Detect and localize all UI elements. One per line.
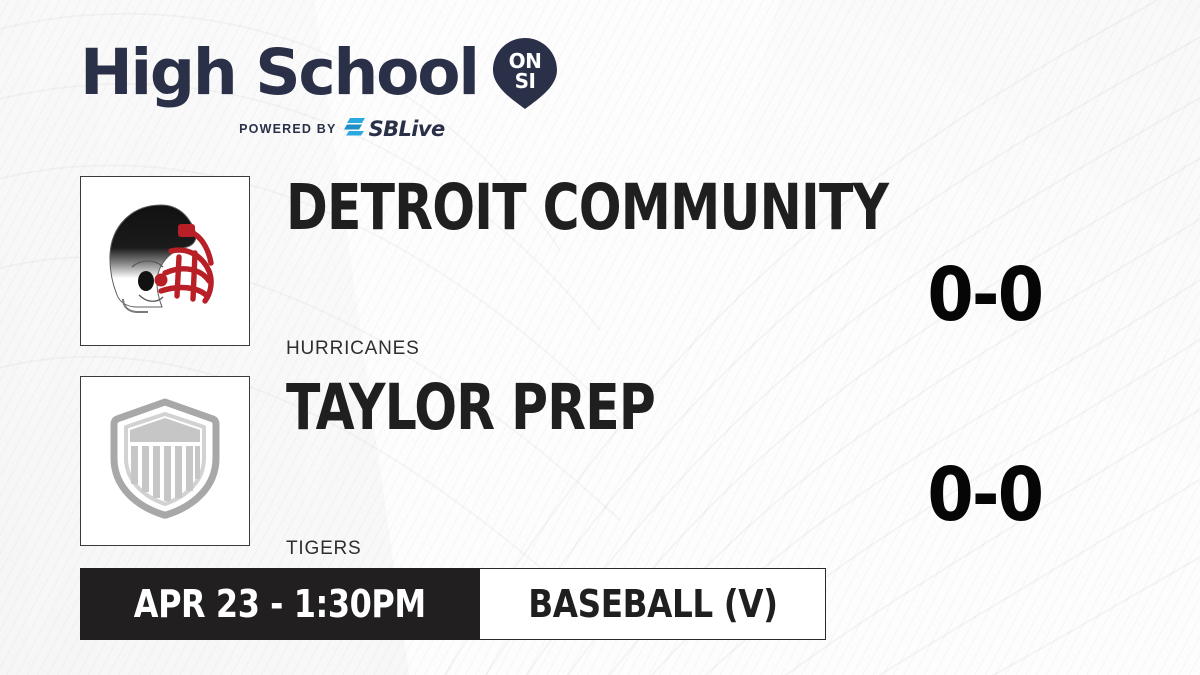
event-datetime-badge: APR 23 - 1:30PM (80, 568, 480, 640)
event-sport-text: BASEBALL (V) (528, 582, 777, 626)
scoreboard-graphic: High School ON SI POWERED BY (0, 0, 1200, 675)
team-score: 0-0 (927, 258, 1042, 332)
team-mascot: HURRICANES (286, 338, 420, 360)
sblive-mark-icon (344, 117, 366, 141)
team-logo-box (80, 376, 250, 546)
team-logo-box (80, 176, 250, 346)
team-name: DETROIT COMMUNITY (286, 176, 888, 239)
team-mascot: TIGERS (286, 538, 362, 560)
sblive-text: SBLive (369, 117, 445, 141)
event-datetime-text: APR 23 - 1:30PM (134, 582, 426, 626)
event-sport-badge: BASEBALL (V) (480, 568, 827, 640)
team-name: TAYLOR PREP (286, 376, 655, 439)
brand-wordmark: High School ON SI (80, 34, 558, 110)
powered-by-label: POWERED BY (239, 122, 336, 136)
shield-placeholder-icon (109, 398, 221, 525)
event-info-bar: APR 23 - 1:30PM BASEBALL (V) (80, 568, 826, 640)
football-helmet-icon (99, 195, 231, 328)
brand-wordmark-text: High School (80, 41, 478, 104)
powered-by-row: POWERED BY SBLive (126, 117, 558, 141)
svg-text:SI: SI (514, 69, 535, 93)
sblive-logo: SBLive (344, 117, 445, 141)
on-si-pin-icon: ON SI (492, 36, 558, 110)
team-score: 0-0 (927, 458, 1042, 532)
brand-header: High School ON SI POWERED BY (80, 34, 558, 141)
